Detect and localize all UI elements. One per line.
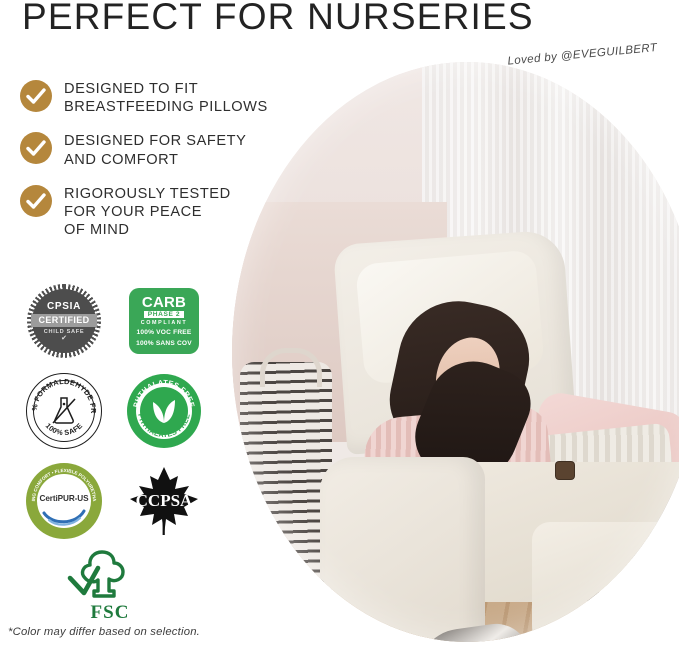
fsc-tree-check-icon [64, 546, 156, 606]
certification-badges: CPSIA CERTIFIED CHILD SAFE ✔ CARB PHASE … [14, 282, 214, 552]
certipur-label: CertiPUR-US [40, 494, 89, 503]
feature-item-fit-pillows: DESIGNED TO FIT BREASTFEEDING PILLOWS [20, 78, 310, 116]
check-circle-icon [20, 80, 52, 112]
certipur-swoosh-icon [42, 507, 86, 529]
badge-cell-certipur: CUSHIONING COMFORT • FLEXIBLE POLYURETHA… [14, 462, 114, 540]
footnote: *Color may differ based on selection. [8, 626, 200, 638]
carb-line4: 100% VOC FREE [136, 329, 191, 337]
cpsia-line1: CPSIA [47, 301, 81, 312]
formaldehyde-free-badge-icon: 100% FORMALDEHYDE FREE 100% SAFE [26, 373, 102, 449]
badge-row-2: 100% FORMALDEHYDE FREE 100% SAFE [14, 372, 214, 450]
feature-item-rigorously-tested: RIGOROUSLY TESTED FOR YOUR PEACE OF MIND [20, 183, 310, 240]
carb-line1: CARB [142, 295, 186, 310]
cpsia-line3: CHILD SAFE [44, 329, 85, 335]
feature-text: RIGOROUSLY TESTED FOR YOUR PEACE OF MIND [64, 183, 231, 240]
badge-cell-cpsia: CPSIA CERTIFIED CHILD SAFE ✔ [14, 282, 114, 360]
badge-cell-phthalates: PHTHALATES FREE PHTHALATES FREE [114, 372, 214, 450]
cpsia-check-icon: ✔ [61, 336, 67, 342]
page-title: PERFECT FOR NURSERIES [22, 0, 534, 38]
maple-leaf-icon: CCPSA [126, 463, 202, 539]
check-circle-icon [20, 185, 52, 217]
badge-cell-ccpsa: CCPSA [114, 462, 214, 540]
certipur-badge-icon: CUSHIONING COMFORT • FLEXIBLE POLYURETHA… [26, 463, 102, 539]
badge-cell-formaldehyde: 100% FORMALDEHYDE FREE 100% SAFE [14, 372, 114, 450]
ccpsa-badge-icon: CCPSA [126, 463, 202, 539]
phthalates-free-badge-icon: PHTHALATES FREE PHTHALATES FREE [127, 374, 201, 448]
feature-text: DESIGNED FOR SAFETY AND COMFORT [64, 130, 246, 168]
carb-line2: PHASE 2 [144, 311, 184, 318]
badge-row-1: CPSIA CERTIFIED CHILD SAFE ✔ CARB PHASE … [14, 282, 214, 360]
marketing-banner: PERFECT FOR NURSERIES Loved by @EVEGUILB… [0, 0, 679, 656]
feature-text: DESIGNED TO FIT BREASTFEEDING PILLOWS [64, 78, 268, 116]
carb-badge-icon: CARB PHASE 2 COMPLIANT 100% VOC FREE 100… [129, 288, 199, 354]
badge-cell-carb: CARB PHASE 2 COMPLIANT 100% VOC FREE 100… [114, 282, 214, 360]
carb-line5: 100% SANS COV [136, 340, 192, 348]
feature-item-safety-comfort: DESIGNED FOR SAFETY AND COMFORT [20, 130, 310, 168]
fsc-label: FSC [64, 602, 156, 624]
cpsia-line2: CERTIFIED [31, 314, 96, 327]
fsc-badge-icon: FSC [64, 546, 156, 622]
check-circle-icon [20, 132, 52, 164]
carb-line3: COMPLIANT [141, 320, 187, 326]
badge-row-3: CUSHIONING COMFORT • FLEXIBLE POLYURETHA… [14, 462, 214, 540]
flask-icon [49, 395, 79, 427]
feature-list: DESIGNED TO FIT BREASTFEEDING PILLOWS DE… [20, 78, 310, 254]
cpsia-badge-icon: CPSIA CERTIFIED CHILD SAFE ✔ [27, 284, 101, 358]
leaf-icon [150, 397, 178, 425]
ccpsa-label: CCPSA [136, 491, 193, 510]
